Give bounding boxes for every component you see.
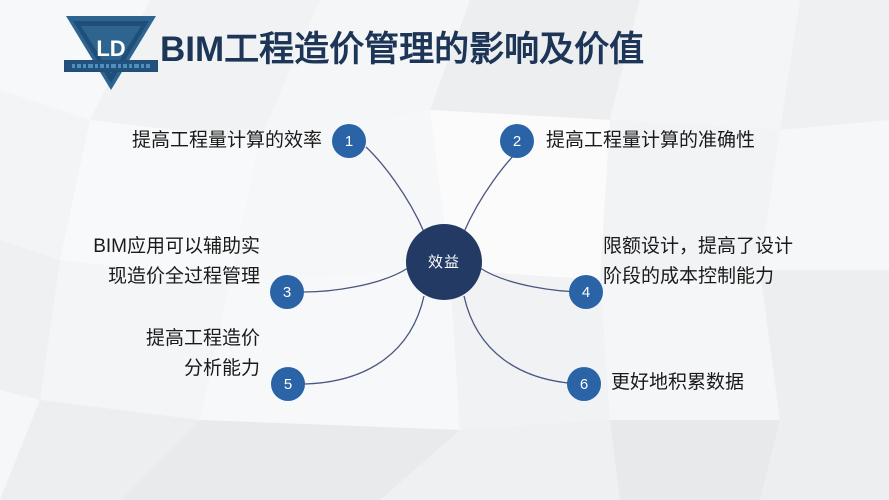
hub-label: 效益 bbox=[428, 255, 460, 270]
connector-3 bbox=[304, 268, 408, 292]
slide-header: LD BIM工程造价管理的影响及价值 bbox=[0, 0, 889, 100]
node-label-1: 提高工程量计算的效率 bbox=[57, 126, 322, 156]
page-title: BIM工程造价管理的影响及价值 bbox=[160, 28, 644, 72]
node-number-3[interactable]: 3 bbox=[270, 275, 304, 309]
node-label-6: 更好地积累数据 bbox=[611, 368, 861, 398]
hub-node[interactable]: 效益 bbox=[406, 224, 482, 300]
node-label-5: 提高工程造价 分析能力 bbox=[60, 324, 260, 384]
node-label-3: BIM应用可以辅助实 现造价全过程管理 bbox=[40, 232, 260, 292]
slide-canvas: LD BIM工程造价管理的影响及价值 效益 1 提高工程量计算的效率 2 提高工… bbox=[0, 0, 889, 500]
connector-1 bbox=[366, 147, 424, 232]
connector-lines bbox=[0, 100, 889, 500]
ld-logo-icon: LD bbox=[62, 12, 160, 94]
node-label-2: 提高工程量计算的准确性 bbox=[546, 126, 846, 156]
connector-2 bbox=[464, 147, 522, 232]
svg-text:LD: LD bbox=[96, 36, 125, 61]
connector-6 bbox=[464, 296, 583, 384]
node-label-4: 限额设计，提高了设计 阶段的成本控制能力 bbox=[603, 232, 853, 292]
node-number-4[interactable]: 4 bbox=[569, 275, 603, 309]
node-number-1[interactable]: 1 bbox=[332, 124, 366, 158]
mindmap-diagram: 效益 1 提高工程量计算的效率 2 提高工程量计算的准确性 3 BIM应用可以辅… bbox=[0, 100, 889, 500]
connector-5 bbox=[305, 296, 424, 384]
node-number-2[interactable]: 2 bbox=[500, 124, 534, 158]
node-number-6[interactable]: 6 bbox=[567, 367, 601, 401]
node-number-5[interactable]: 5 bbox=[271, 367, 305, 401]
